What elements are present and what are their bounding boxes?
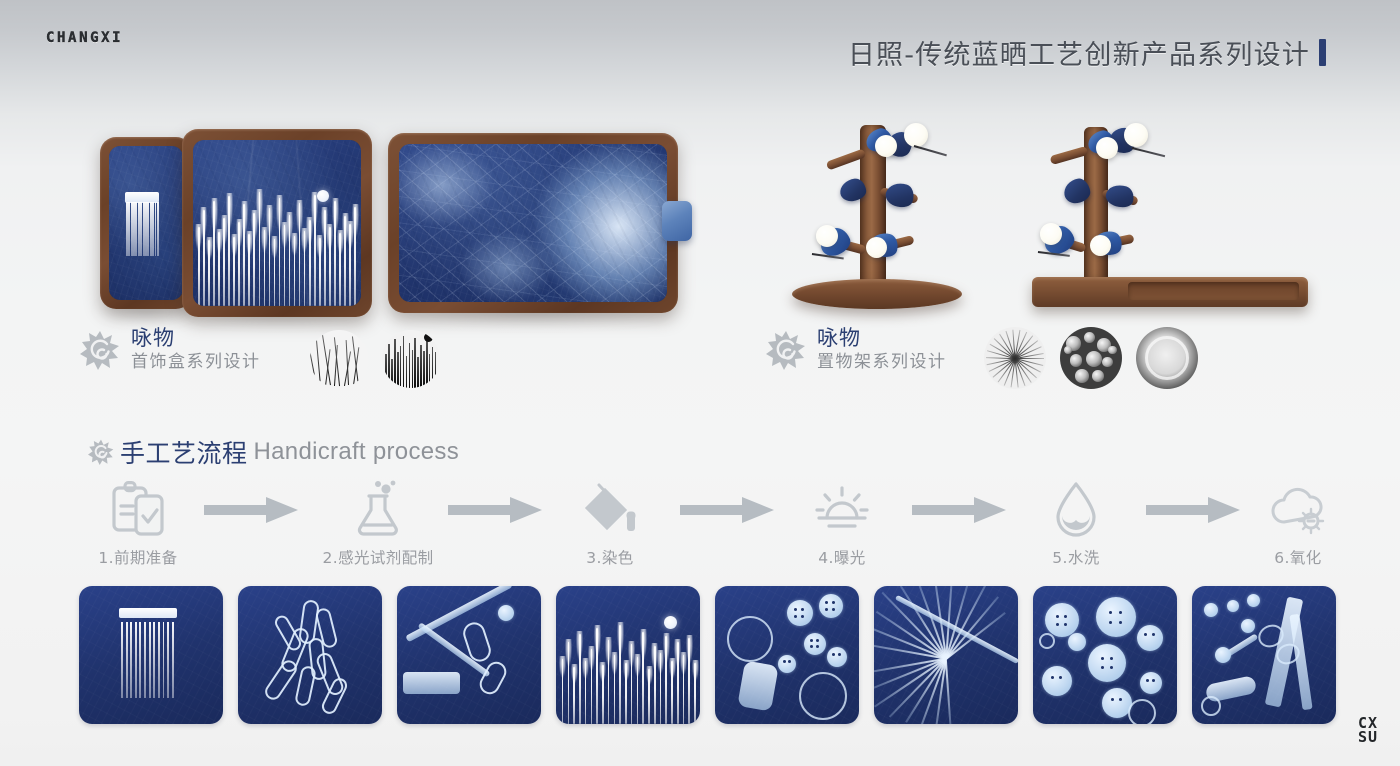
cluster-blob-thumb [1060, 327, 1122, 389]
series-subtitle: 首饰盒系列设计 [131, 351, 261, 374]
corner-logo: CX SU [1358, 716, 1378, 744]
tree-rack-round-base [782, 113, 972, 309]
grass-sketch-thumb [310, 330, 368, 388]
right-arrow-icon [680, 496, 776, 524]
corner-logo-line2: SU [1358, 730, 1378, 744]
palm-frond-cyanotype [874, 586, 1018, 724]
page-title: 日照-传统蓝晒工艺创新产品系列设计 [848, 33, 1310, 72]
disc [1096, 137, 1118, 159]
series-name: 咏物 [131, 325, 261, 351]
tools-cyanotype [397, 586, 541, 724]
disc [1090, 235, 1111, 256]
box-tab [662, 201, 692, 241]
series-label-rack: 咏物 置物架系列设计 [766, 325, 947, 374]
palm-burst-thumb [984, 327, 1046, 389]
process-step-3: 3.染色 [550, 478, 670, 568]
paint-bucket-icon [550, 478, 670, 540]
ring-thumb [1136, 327, 1198, 389]
process-step-2: 2.感光试剂配制 [318, 478, 438, 568]
jewelry-box-square [182, 129, 372, 317]
pin [914, 145, 947, 156]
cyanotype-panel [109, 146, 183, 300]
scissors-tools-cyanotype [1192, 586, 1336, 724]
process-step-label: 4.曝光 [782, 546, 902, 568]
tree-rack-tray-base [1032, 113, 1308, 309]
sun-spiral-icon [766, 330, 806, 370]
product-photo-zone [0, 105, 1400, 320]
flask-bubbles-icon [318, 478, 438, 540]
process-step-label: 2.感光试剂配制 [318, 546, 438, 568]
disc [1124, 123, 1148, 147]
sun-spiral-icon [88, 439, 114, 465]
process-step-label: 6.氧化 [1238, 546, 1358, 568]
series-thumbnails-left [310, 330, 440, 388]
cyanotype-swatch-strip [79, 586, 1336, 724]
water-drop-icon [1016, 478, 1136, 540]
disc [875, 135, 897, 157]
tray-base [1032, 277, 1308, 307]
jewelry-box-narrow [100, 137, 192, 309]
pin [1132, 147, 1165, 157]
process-step-4: 4.曝光 [782, 478, 902, 568]
reeds-moon-cyanotype [556, 586, 700, 724]
right-arrow-icon [1146, 496, 1242, 524]
process-heading-cn: 手工艺流程 [120, 434, 248, 470]
cyanotype-panel [399, 144, 667, 302]
comb-print [125, 192, 159, 257]
process-step-6: 6.氧化 [1238, 478, 1358, 568]
series-name: 咏物 [817, 325, 947, 351]
petal [883, 179, 917, 210]
series-thumbnails-right [984, 327, 1198, 389]
sun-spiral-icon [80, 330, 120, 370]
right-arrow-icon [912, 496, 1008, 524]
jewelry-box-wide [388, 133, 678, 313]
clipboard-checklist-icon [78, 478, 198, 540]
buttons-scatter-cyanotype [1033, 586, 1177, 724]
disc [866, 237, 887, 258]
series-label-jewelry-box: 咏物 首饰盒系列设计 [80, 325, 261, 374]
series-subtitle: 置物架系列设计 [817, 351, 947, 374]
title-accent-bar [1319, 39, 1326, 66]
process-step-label: 1.前期准备 [78, 546, 198, 568]
right-arrow-icon [204, 496, 300, 524]
buttons-rings-cyanotype [715, 586, 859, 724]
process-step-5: 5.水洗 [1016, 478, 1136, 568]
comb-cyanotype [79, 586, 223, 724]
process-heading-group: 手工艺流程 Handicraft process [88, 434, 459, 470]
dense-reeds-thumb [382, 330, 440, 388]
cyanotype-panel [193, 140, 361, 306]
process-step-1: 1.前期准备 [78, 478, 198, 568]
right-arrow-icon [448, 496, 544, 524]
slide-canvas: CHANGXI 日照-传统蓝晒工艺创新产品系列设计 [0, 0, 1400, 766]
disc [816, 225, 838, 247]
petal [1104, 182, 1137, 211]
cloud-sun-icon [1238, 478, 1358, 540]
process-heading-en: Handicraft process [254, 438, 460, 466]
process-step-label: 5.水洗 [1016, 546, 1136, 568]
paperclips-cyanotype [238, 586, 382, 724]
branch [1049, 146, 1088, 165]
process-step-label: 3.染色 [550, 546, 670, 568]
brand-logo: CHANGXI [46, 30, 123, 46]
forest-moon-print [193, 186, 361, 306]
sunrise-icon [782, 478, 902, 540]
disc [904, 123, 928, 147]
process-steps: 1.前期准备 2.感光试剂配制 [78, 478, 1328, 574]
round-base [792, 279, 962, 309]
page-title-group: 日照-传统蓝晒工艺创新产品系列设计 [848, 33, 1326, 72]
disc [1040, 223, 1062, 245]
